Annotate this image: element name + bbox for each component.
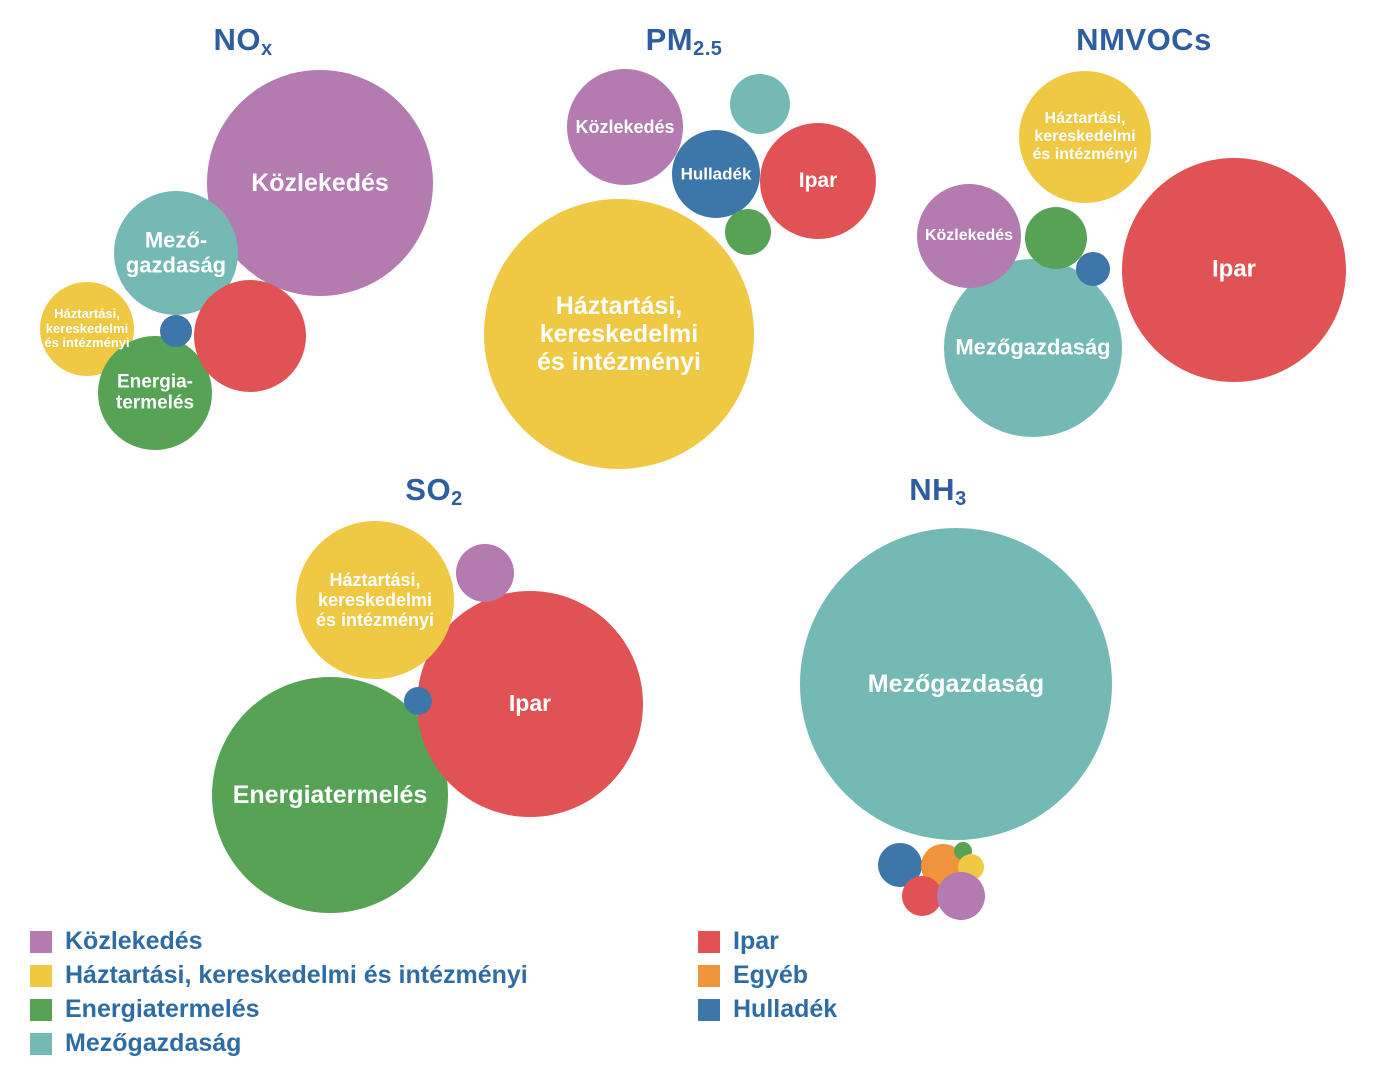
legend-swatch-egyeb: [698, 965, 720, 987]
legend-item-kozlekedes[interactable]: Közlekedés: [30, 927, 528, 956]
legend-swatch-hulladek: [698, 999, 720, 1021]
bubble-nh3-kozlekedes[interactable]: [937, 872, 985, 920]
bubble-nmvocs-ipar[interactable]: [1122, 158, 1346, 382]
bubble-nox-kozlekedes[interactable]: [207, 70, 433, 296]
bubble-nox-energiatermeles[interactable]: [98, 336, 212, 450]
bubble-pm25-hulladek[interactable]: [672, 130, 760, 218]
bubble-chart-canvas: [0, 0, 1379, 1076]
panel-title-nh3: NH3: [909, 472, 966, 508]
bubble-pm25-ipar[interactable]: [760, 123, 876, 239]
legend-label-ipar: Ipar: [733, 927, 779, 956]
legend-swatch-kozlekedes: [30, 931, 52, 953]
bubble-group-nox: [40, 70, 433, 450]
panel-title-nox: NOx: [213, 22, 272, 58]
pollutant-subscript: 2: [451, 488, 463, 510]
bubble-chart-infographic: NOxPM2.5NMVOCsSO2NH3 KözlekedésMező- gaz…: [0, 0, 1379, 1076]
pollutant-name: NMVOCs: [1076, 22, 1212, 57]
legend-left-column: KözlekedésHáztartási, kereskedelmi és in…: [30, 927, 528, 1063]
bubble-pm25-energiatermeles[interactable]: [725, 209, 771, 255]
legend-label-kozlekedes: Közlekedés: [65, 927, 203, 956]
bubble-group-nh3: [800, 528, 1112, 920]
legend-item-egyeb[interactable]: Egyéb: [698, 961, 837, 990]
bubble-group-pm25: [484, 69, 876, 469]
bubble-nmvocs-energiatermeles[interactable]: [1025, 207, 1087, 269]
legend-label-mezogazdasag: Mezőgazdaság: [65, 1029, 241, 1058]
legend-swatch-haztartasi: [30, 965, 52, 987]
bubble-nh3-ipar[interactable]: [902, 876, 942, 916]
bubble-group-so2: [212, 521, 643, 913]
bubble-nox-ipar[interactable]: [194, 280, 306, 392]
legend-item-energiatermeles[interactable]: Energiatermelés: [30, 995, 528, 1024]
legend-label-egyeb: Egyéb: [733, 961, 808, 990]
bubble-pm25-mezogazdasag[interactable]: [730, 74, 790, 134]
bubble-nmvocs-hulladek[interactable]: [1076, 252, 1110, 286]
legend-swatch-ipar: [698, 931, 720, 953]
pollutant-name: NO: [213, 22, 261, 57]
bubble-pm25-haztartasi[interactable]: [484, 199, 754, 469]
legend-swatch-energiatermeles: [30, 999, 52, 1021]
legend-item-hulladek[interactable]: Hulladék: [698, 995, 837, 1024]
bubble-nmvocs-haztartasi[interactable]: [1019, 71, 1151, 203]
bubble-so2-haztartasi[interactable]: [296, 521, 454, 679]
legend-item-mezogazdasag[interactable]: Mezőgazdaság: [30, 1029, 528, 1058]
bubble-nmvocs-kozlekedes[interactable]: [917, 184, 1021, 288]
legend-label-haztartasi: Háztartási, kereskedelmi és intézményi: [65, 961, 528, 990]
legend-item-haztartasi[interactable]: Háztartási, kereskedelmi és intézményi: [30, 961, 528, 990]
pollutant-name: PM: [646, 22, 694, 57]
pollutant-subscript: x: [261, 38, 273, 60]
panel-title-pm25: PM2.5: [646, 22, 723, 58]
pollutant-subscript: 2.5: [693, 38, 722, 60]
bubble-nox-hulladek[interactable]: [160, 315, 192, 347]
pollutant-name: NH: [909, 472, 955, 507]
legend-item-ipar[interactable]: Ipar: [698, 927, 837, 956]
bubble-so2-hulladek[interactable]: [404, 687, 432, 715]
bubble-so2-kozlekedes[interactable]: [456, 544, 514, 602]
bubble-pm25-kozlekedes[interactable]: [567, 69, 683, 185]
panel-title-nmvocs: NMVOCs: [1076, 22, 1212, 58]
bubble-so2-ipar[interactable]: [417, 591, 643, 817]
pollutant-name: SO: [405, 472, 451, 507]
panel-title-so2: SO2: [405, 472, 462, 508]
legend-label-energiatermeles: Energiatermelés: [65, 995, 260, 1024]
bubble-group-nmvocs: [917, 71, 1346, 437]
legend-right-column: IparEgyébHulladék: [698, 927, 837, 1029]
pollutant-subscript: 3: [955, 488, 967, 510]
bubble-nh3-mezogazdasag[interactable]: [800, 528, 1112, 840]
legend-swatch-mezogazdasag: [30, 1033, 52, 1055]
legend-label-hulladek: Hulladék: [733, 995, 837, 1024]
